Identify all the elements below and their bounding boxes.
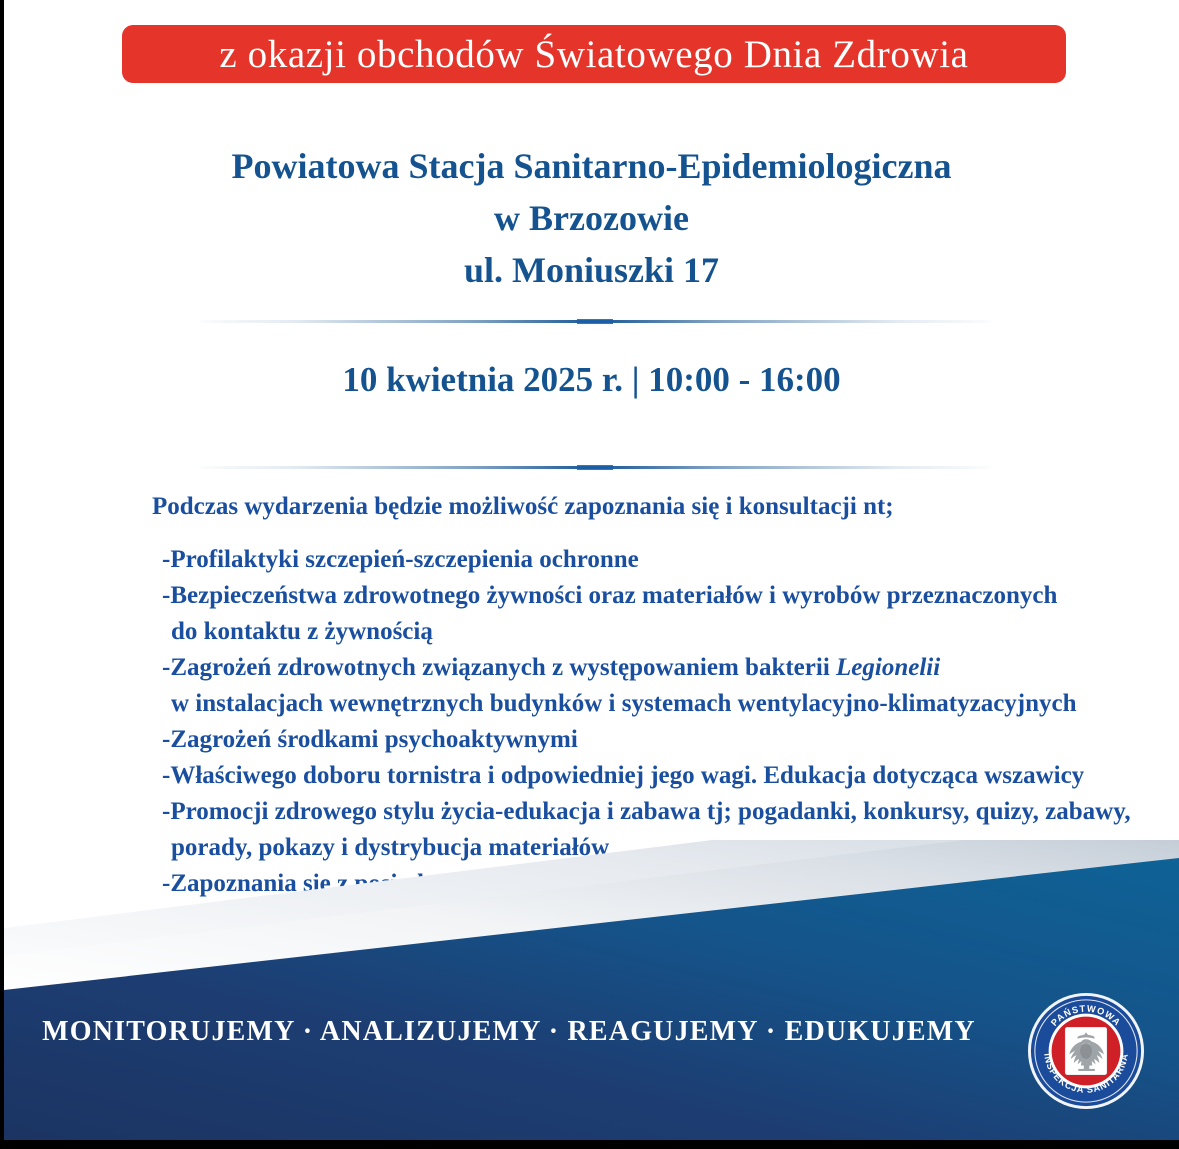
- poster-canvas: z okazji obchodów Światowego Dnia Zdrowi…: [0, 0, 1179, 1149]
- event-datetime: 10 kwietnia 2025 r. | 10:00 - 16:00: [4, 358, 1179, 402]
- divider-top-center-mark: [577, 319, 613, 324]
- list-item: -Profilaktyki szczepień-szczepienia ochr…: [162, 542, 1139, 578]
- page-title: Powiatowa Stacja Sanitarno-Epidemiologic…: [4, 140, 1179, 296]
- title-line-city: w Brzozowie: [4, 192, 1179, 244]
- list-item: -Bezpieczeństwa zdrowotnego żywności ora…: [162, 578, 1139, 614]
- list-item-italic-term: Legionelii: [836, 654, 940, 681]
- header-ribbon-text: z okazji obchodów Światowego Dnia Zdrowi…: [219, 35, 968, 74]
- psse-seal-logo: PAŃSTWOWA INSPEKCJA SANITARNA: [1027, 992, 1145, 1110]
- divider-top: [200, 320, 990, 323]
- list-item-continuation: do kontaktu z żywnością: [162, 614, 1139, 650]
- body-intro-text: Podczas wydarzenia będzie możliwość zapo…: [152, 490, 894, 524]
- divider-bottom-center-mark: [577, 465, 613, 470]
- list-item: -Właściwego doboru tornistra i odpowiedn…: [162, 758, 1139, 794]
- list-item: -Zagrożeń zdrowotnych związanych z wystę…: [162, 650, 1139, 686]
- divider-bottom: [200, 466, 990, 469]
- footer-banner: MONITORUJEMY · ANALIZUJEMY · REAGUJEMY ·…: [4, 840, 1179, 1140]
- title-line-institution: Powiatowa Stacja Sanitarno-Epidemiologic…: [4, 140, 1179, 192]
- title-line-address: ul. Moniuszki 17: [4, 244, 1179, 296]
- polish-eagle-shadow: [1080, 1043, 1092, 1059]
- list-item-text: -Zagrożeń zdrowotnych związanych z wystę…: [162, 654, 836, 681]
- header-ribbon: z okazji obchodów Światowego Dnia Zdrowi…: [122, 25, 1066, 83]
- psse-seal-graphic: PAŃSTWOWA INSPEKCJA SANITARNA: [1027, 992, 1145, 1110]
- footer-diagonal-shapes: [4, 840, 1179, 1140]
- list-item: -Promocji zdrowego stylu życia-edukacja …: [162, 794, 1139, 830]
- list-item-continuation: w instalacjach wewnętrznych budynków i s…: [162, 686, 1139, 722]
- list-item: -Zagrożeń środkami psychoaktywnymi: [162, 722, 1139, 758]
- footer-slogan: MONITORUJEMY · ANALIZUJEMY · REAGUJEMY ·…: [4, 1016, 1014, 1048]
